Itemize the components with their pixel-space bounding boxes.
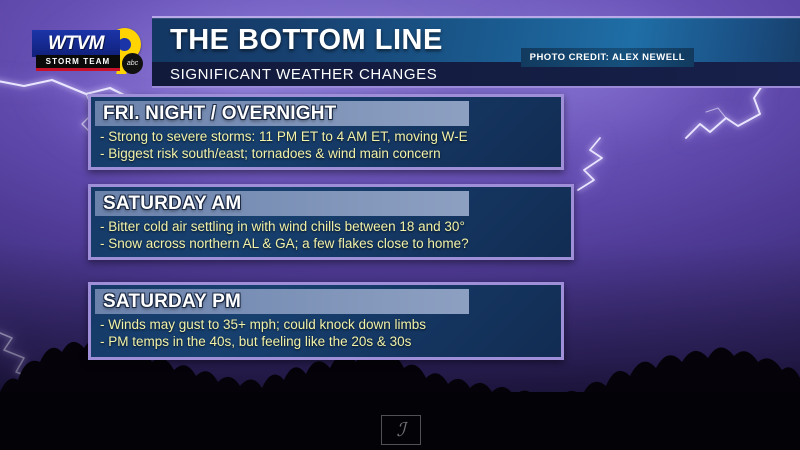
panel-heading-text: SATURDAY AM <box>95 194 241 213</box>
panel-heading-text: SATURDAY PM <box>95 292 241 311</box>
logo-stormteam-bar: STORM TEAM <box>36 55 120 68</box>
watermark-monogram: ℐ <box>397 421 406 440</box>
forecast-panel-saturday-pm: SATURDAY PM - Winds may gust to 35+ mph;… <box>88 282 564 360</box>
panel-line: - PM temps in the 40s, but feeling like … <box>100 333 555 350</box>
panel-body: - Winds may gust to 35+ mph; could knock… <box>100 316 555 350</box>
abc-network-icon: abc <box>122 53 143 74</box>
logo-callsign-text: WTVM <box>48 34 104 53</box>
panel-heading-text: FRI. NIGHT / OVERNIGHT <box>95 104 336 123</box>
panel-body: - Strong to severe storms: 11 PM ET to 4… <box>100 128 555 162</box>
header-title-bar: THE BOTTOM LINE <box>152 16 800 64</box>
panel-body: - Bitter cold air settling in with wind … <box>100 218 565 252</box>
photo-credit-text: PHOTO CREDIT: ALEX NEWELL <box>530 53 685 63</box>
panel-line: - Winds may gust to 35+ mph; could knock… <box>100 316 555 333</box>
wtvm-storm-team-logo: WTVM STORM TEAM abc <box>32 26 145 75</box>
logo-red-stripe <box>36 68 120 71</box>
panel-line: - Snow across northern AL & GA; a few fl… <box>100 235 565 252</box>
forecast-panel-friday-night: FRI. NIGHT / OVERNIGHT - Strong to sever… <box>88 94 564 170</box>
panel-heading-bar: SATURDAY PM <box>95 289 469 314</box>
panel-line: - Strong to severe storms: 11 PM ET to 4… <box>100 128 555 145</box>
abc-network-text: abc <box>127 60 138 67</box>
panel-line: - Biggest risk south/east; tornadoes & w… <box>100 145 555 162</box>
header-banner: THE BOTTOM LINE SIGNIFICANT WEATHER CHAN… <box>152 16 800 86</box>
weather-graphic: WTVM STORM TEAM abc THE BOTTOM LINE SIGN… <box>0 0 800 450</box>
forecast-panel-saturday-am: SATURDAY AM - Bitter cold air settling i… <box>88 184 574 260</box>
panel-heading-bar: SATURDAY AM <box>95 191 469 216</box>
page-title: THE BOTTOM LINE <box>152 26 443 55</box>
header-subtitle-bar: SIGNIFICANT WEATHER CHANGES <box>152 62 800 88</box>
page-subtitle: SIGNIFICANT WEATHER CHANGES <box>152 67 437 82</box>
logo-stormteam-text: STORM TEAM <box>46 58 111 66</box>
photo-credit-badge: PHOTO CREDIT: ALEX NEWELL <box>521 48 694 67</box>
logo-callsign: WTVM <box>32 30 120 57</box>
photographer-watermark: ℐ <box>381 415 421 445</box>
panel-line: - Bitter cold air settling in with wind … <box>100 218 565 235</box>
panel-heading-bar: FRI. NIGHT / OVERNIGHT <box>95 101 469 126</box>
